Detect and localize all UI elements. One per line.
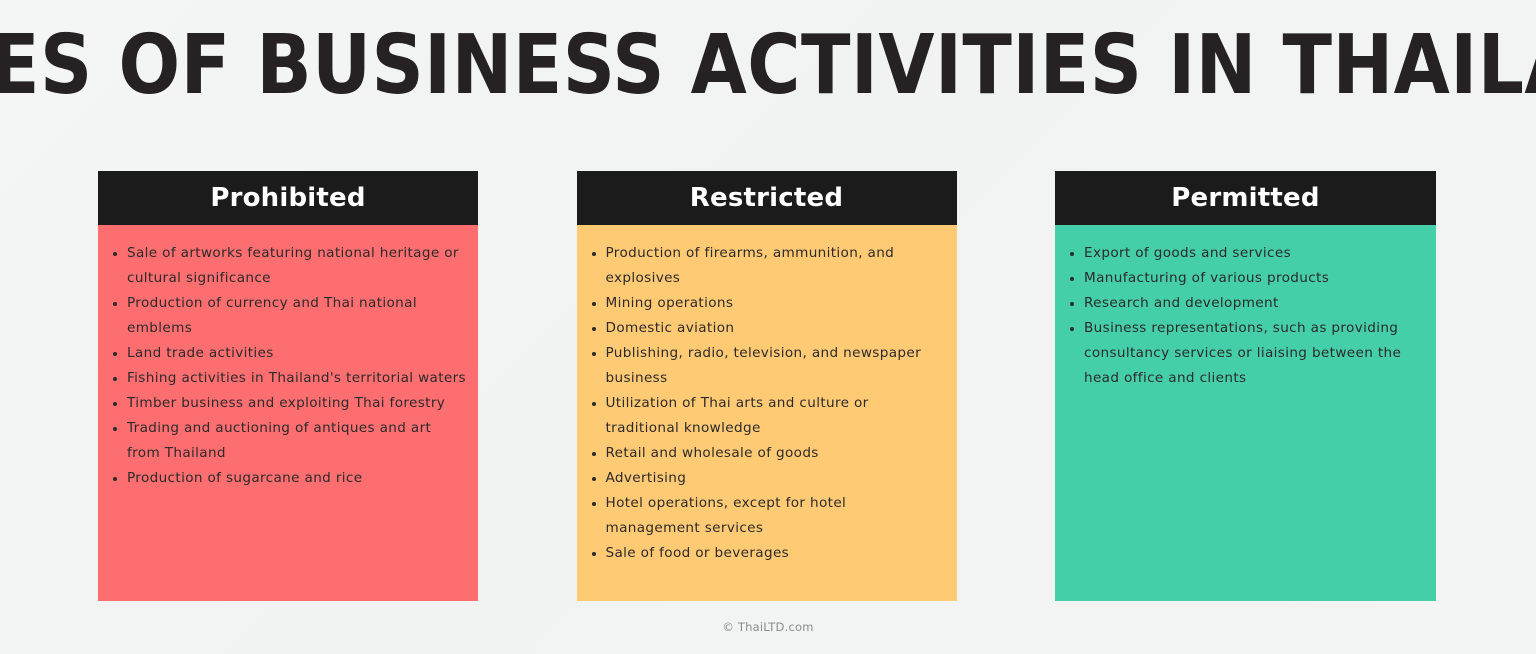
list-item: Sale of food or beverages bbox=[589, 541, 945, 566]
list-item: Production of currency and Thai national… bbox=[110, 291, 466, 341]
list-item: Land trade activities bbox=[110, 341, 466, 366]
list-permitted: Export of goods and services Manufacturi… bbox=[1067, 241, 1424, 391]
list-item: Export of goods and services bbox=[1067, 241, 1424, 266]
list-item: Timber business and exploiting Thai fore… bbox=[110, 391, 466, 416]
list-item: Trading and auctioning of antiques and a… bbox=[110, 416, 466, 466]
page-title: TYPES OF BUSINESS ACTIVITIES IN THAILAND bbox=[0, 22, 1536, 110]
list-item: Production of sugarcane and rice bbox=[110, 466, 466, 491]
card-body-prohibited: Sale of artworks featuring national heri… bbox=[98, 225, 478, 601]
list-prohibited: Sale of artworks featuring national heri… bbox=[110, 241, 466, 491]
card-header-prohibited: Prohibited bbox=[98, 171, 478, 225]
list-item: Domestic aviation bbox=[589, 316, 945, 341]
list-item: Retail and wholesale of goods bbox=[589, 441, 945, 466]
card-restricted: Restricted Production of firearms, ammun… bbox=[577, 171, 957, 601]
list-item: Publishing, radio, television, and newsp… bbox=[589, 341, 945, 391]
card-heading-label: Restricted bbox=[690, 184, 843, 212]
card-heading-label: Prohibited bbox=[210, 184, 365, 212]
card-header-permitted: Permitted bbox=[1055, 171, 1436, 225]
list-item: Mining operations bbox=[589, 291, 945, 316]
card-heading-label: Permitted bbox=[1171, 184, 1319, 212]
list-item: Sale of artworks featuring national heri… bbox=[110, 241, 466, 291]
category-cards-row: Prohibited Sale of artworks featuring na… bbox=[98, 171, 1436, 601]
list-item: Fishing activities in Thailand's territo… bbox=[110, 366, 466, 391]
list-item: Research and development bbox=[1067, 291, 1424, 316]
card-header-restricted: Restricted bbox=[577, 171, 957, 225]
list-item: Production of firearms, ammunition, and … bbox=[589, 241, 945, 291]
list-item: Hotel operations, except for hotel manag… bbox=[589, 491, 945, 541]
footer: © ThaiLTD.com bbox=[0, 618, 1536, 636]
copyright-credit: © ThaiLTD.com bbox=[722, 620, 813, 634]
list-item: Manufacturing of various products bbox=[1067, 266, 1424, 291]
card-permitted: Permitted Export of goods and services M… bbox=[1055, 171, 1436, 601]
list-item: Advertising bbox=[589, 466, 945, 491]
card-body-permitted: Export of goods and services Manufacturi… bbox=[1055, 225, 1436, 601]
list-item: Utilization of Thai arts and culture or … bbox=[589, 391, 945, 441]
list-restricted: Production of firearms, ammunition, and … bbox=[589, 241, 945, 566]
card-body-restricted: Production of firearms, ammunition, and … bbox=[577, 225, 957, 601]
list-item: Business representations, such as provid… bbox=[1067, 316, 1424, 391]
infographic-poster: TYPES OF BUSINESS ACTIVITIES IN THAILAND… bbox=[0, 0, 1536, 654]
title-container: TYPES OF BUSINESS ACTIVITIES IN THAILAND bbox=[0, 18, 1536, 114]
card-prohibited: Prohibited Sale of artworks featuring na… bbox=[98, 171, 478, 601]
